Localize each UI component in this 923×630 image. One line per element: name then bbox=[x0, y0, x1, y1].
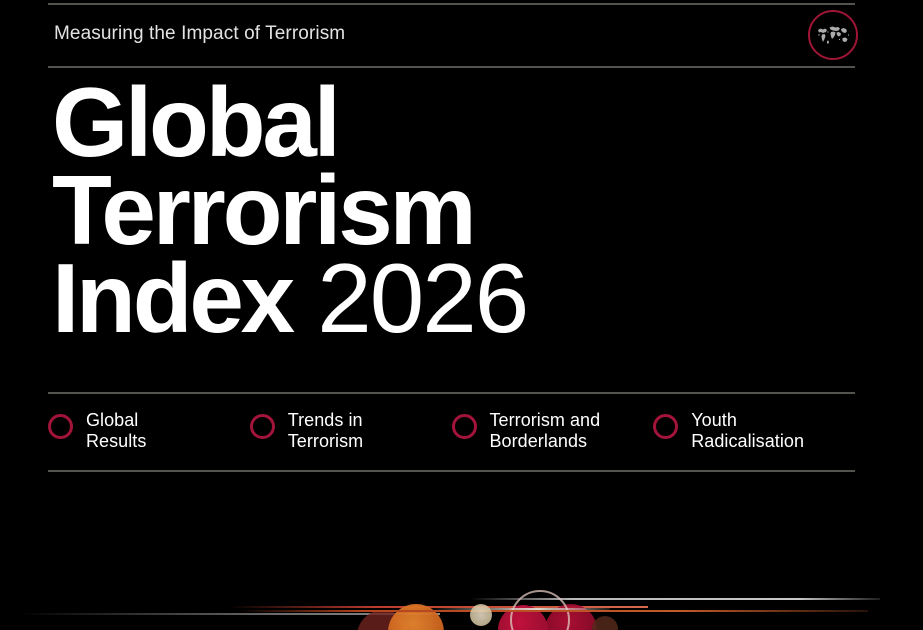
organisation-logo bbox=[808, 10, 858, 60]
title-line-2: Terrorism bbox=[52, 166, 852, 254]
section-nav: GlobalResults Trends inTerrorism Terrori… bbox=[48, 404, 855, 462]
decorative-graphic bbox=[0, 560, 923, 630]
nav-item-label: YouthRadicalisation bbox=[691, 410, 804, 452]
title-year: 2026 bbox=[292, 243, 527, 353]
nav-label-line-1: Youth bbox=[691, 410, 737, 430]
nav-item-label: Terrorism andBorderlands bbox=[490, 410, 601, 452]
circle-outline-icon bbox=[250, 414, 275, 439]
nav-item-youth-radicalisation[interactable]: YouthRadicalisation bbox=[653, 404, 855, 462]
nav-item-label: Trends inTerrorism bbox=[288, 410, 363, 452]
nav-item-global-results[interactable]: GlobalResults bbox=[48, 404, 250, 462]
nav-label-line-2: Borderlands bbox=[490, 431, 588, 451]
nav-label-line-1: Global bbox=[86, 410, 138, 430]
title-line-3: Index 2026 bbox=[52, 254, 852, 342]
page-subtitle: Measuring the Impact of Terrorism bbox=[54, 23, 345, 45]
nav-label-line-1: Trends in bbox=[288, 410, 363, 430]
divider-top bbox=[48, 3, 855, 5]
title-line-1: Global bbox=[52, 78, 852, 166]
circle-outline-icon bbox=[452, 414, 477, 439]
deco-line-pale bbox=[430, 608, 610, 610]
world-map-globe-icon bbox=[816, 23, 850, 47]
divider-below-nav bbox=[48, 470, 855, 472]
nav-label-line-2: Terrorism bbox=[288, 431, 363, 451]
deco-circle-dim bbox=[592, 616, 618, 630]
cover-page: Measuring the Impact of Terrorism Global bbox=[0, 0, 923, 630]
title-index-word: Index bbox=[52, 243, 292, 353]
circle-outline-icon bbox=[653, 414, 678, 439]
nav-label-line-2: Radicalisation bbox=[691, 431, 804, 451]
nav-item-terrorism-and-borderlands[interactable]: Terrorism andBorderlands bbox=[452, 404, 654, 462]
nav-label-line-2: Results bbox=[86, 431, 146, 451]
nav-label-line-1: Terrorism and bbox=[490, 410, 601, 430]
nav-item-trends-in-terrorism[interactable]: Trends inTerrorism bbox=[250, 404, 452, 462]
divider-above-nav bbox=[48, 392, 855, 394]
nav-item-label: GlobalResults bbox=[86, 410, 146, 452]
page-title: Global Terrorism Index 2026 bbox=[52, 78, 852, 342]
deco-circle-pale bbox=[470, 604, 492, 626]
deco-line-orange-main bbox=[238, 610, 868, 612]
circle-outline-icon bbox=[48, 414, 73, 439]
